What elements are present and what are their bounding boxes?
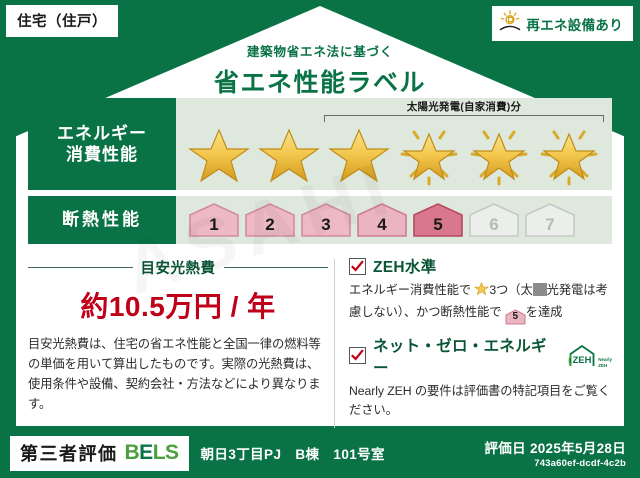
inline-star-icon (474, 281, 489, 303)
performance-panel: エネルギー 消費性能 太陽光発電(自家消費)分 (28, 98, 612, 250)
room-number: 101号室 (333, 443, 385, 463)
redacted-character (533, 283, 547, 296)
star-rating: 太陽光発電(自家消費)分 (176, 98, 612, 190)
energy-consumption-row: エネルギー 消費性能 太陽光発電(自家消費)分 (28, 98, 612, 190)
column-divider (334, 259, 335, 431)
zeh-standard-title: ZEH水準 (373, 255, 437, 277)
star-2 (258, 124, 320, 186)
star-1 (188, 124, 250, 186)
standards-column: ZEH水準 エネルギー消費性能で 3つ（太光発電は考慮しない）、かつ断熱性能で … (349, 255, 612, 431)
checkbox-net-zero[interactable] (349, 347, 366, 364)
renewable-equipment-badge: 再エネ設備あり (492, 6, 633, 41)
zeh-standard-body: エネルギー消費性能で 3つ（太光発電は考慮しない）、かつ断熱性能で 5 を達成 (349, 281, 612, 324)
star-6-solar (538, 124, 600, 186)
net-zero-body: Nearly ZEH の要件は評価書の特記項目をご覧ください。 (349, 382, 612, 421)
cost-column: 目安光熱費 約10.5万円 / 年 目安光熱費は、住宅の省エネ性能と全国一律の燃… (28, 255, 328, 431)
lower-section: 目安光熱費 約10.5万円 / 年 目安光熱費は、住宅の省エネ性能と全国一律の燃… (28, 255, 612, 431)
solar-sun-icon (498, 10, 522, 37)
checkbox-zeh-standard[interactable] (349, 258, 366, 275)
insulation-level-6: 6 (468, 202, 520, 238)
building-block: B棟 (295, 443, 319, 463)
insulation-row: 断熱性能 1 2 3 4 (28, 196, 612, 244)
solar-annotation: 太陽光発電(自家消費)分 (324, 99, 604, 122)
insulation-label: 断熱性能 (28, 196, 176, 244)
title-block: 建築物省エネ法に基づく 省エネ性能ラベル (0, 41, 640, 99)
building-info: 朝日3丁目PJ B棟 101号室 (201, 443, 385, 463)
solar-annotation-label: 太陽光発電(自家消費)分 (324, 99, 604, 114)
zeh-logo: ZEH Nearly ZEH (567, 344, 612, 368)
bels-logo: BELS (125, 441, 179, 465)
page-title: 省エネ性能ラベル (0, 63, 640, 99)
insulation-level-1: 1 (188, 202, 240, 238)
evaluation-id: 743a60ef-dcdf-4c2b (484, 458, 626, 469)
evaluation-date: 評価日 2025年5月28日 (484, 437, 626, 457)
inline-insulation-level-5: 5 (505, 309, 526, 324)
label-subtitle: 建築物省エネ法に基づく (0, 41, 640, 60)
cost-value: 約10.5万円 / 年 (28, 285, 328, 325)
insulation-level-5: 5 (412, 202, 464, 238)
net-zero-title: ネット・ゼロ・エネルギー (373, 334, 557, 378)
cost-rule-right (224, 267, 329, 269)
category-tag: 住宅（住戸） (6, 5, 118, 37)
insulation-level-7: 7 (524, 202, 576, 238)
star-4-solar (398, 124, 460, 186)
evaluation-info: 評価日 2025年5月28日 743a60ef-dcdf-4c2b (484, 437, 626, 469)
building-name: 朝日3丁目PJ (201, 443, 282, 463)
zeh-standard-block: ZEH水準 エネルギー消費性能で 3つ（太光発電は考慮しない）、かつ断熱性能で … (349, 255, 612, 324)
star-3 (328, 124, 390, 186)
net-zero-block: ネット・ゼロ・エネルギー ZEH Nearly ZEH Nearly ZE (349, 334, 612, 421)
energy-consumption-label: エネルギー 消費性能 (28, 98, 176, 190)
footer-bar: 第三者評価 BELS 朝日3丁目PJ B棟 101号室 評価日 2025年5月2… (0, 428, 640, 478)
renewable-badge-label: 再エネ設備あり (526, 14, 623, 34)
insulation-level-4: 4 (356, 202, 408, 238)
solar-annotation-bracket (324, 115, 604, 122)
insulation-level-2: 2 (244, 202, 296, 238)
cost-heading-label: 目安光熱費 (141, 257, 216, 278)
cost-heading: 目安光熱費 (28, 257, 328, 278)
svg-text:ZEH: ZEH (573, 355, 592, 366)
net-zero-header: ネット・ゼロ・エネルギー ZEH Nearly ZEH (349, 334, 612, 378)
bels-chip: 第三者評価 BELS (10, 436, 189, 471)
category-tag-label: 住宅（住戸） (17, 14, 107, 30)
star-5-solar (468, 124, 530, 186)
check-icon (351, 349, 364, 362)
check-icon (351, 260, 364, 273)
insulation-levels: 1 2 3 4 5 (176, 196, 612, 244)
energy-performance-label: ASAHI 住宅（住戸） 再エネ設備あり 建築物省エネ法に基づく (0, 0, 640, 478)
zeh-logo-subtext: Nearly ZEH (598, 357, 612, 367)
cost-rule-left (28, 267, 133, 269)
zeh-house-icon: ZEH (567, 344, 597, 368)
cost-note: 目安光熱費は、住宅の省エネ性能と全国一律の燃料等の単価を用いて算出したものです。… (28, 335, 328, 415)
insulation-level-3: 3 (300, 202, 352, 238)
zeh-standard-header: ZEH水準 (349, 255, 612, 277)
third-party-eval-label: 第三者評価 (20, 440, 118, 466)
